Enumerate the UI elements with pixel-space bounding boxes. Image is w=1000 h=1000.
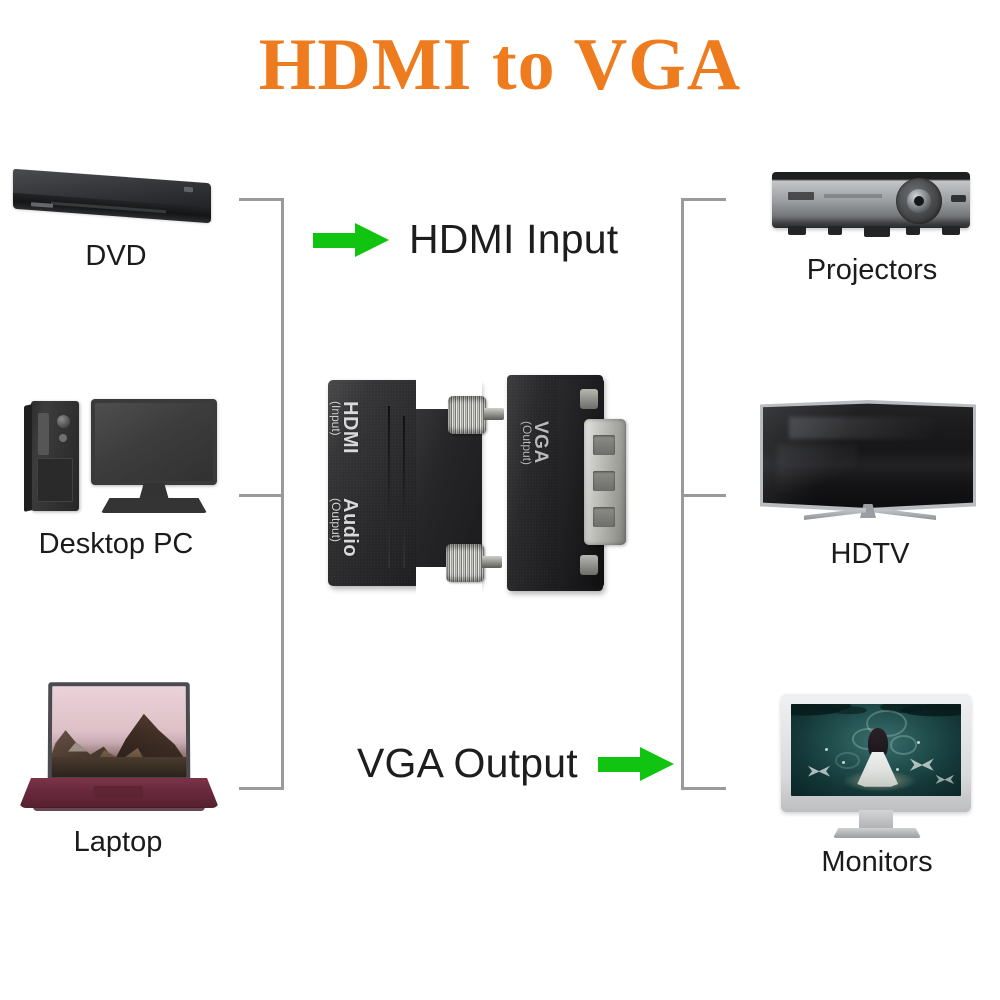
projector-icon [766,168,978,246]
arrow-right-icon [598,747,674,781]
adapter-screw-post-top [580,389,598,409]
device-label: Monitors [762,846,992,879]
vga-output-label: VGA Output [357,740,578,787]
bracket-stub-middle [684,494,726,497]
bracket-stub-bottom [684,787,726,790]
device-label: DVD [0,240,232,273]
dvd-player-icon [11,170,221,232]
page-title: HDMI to VGA [0,28,1000,102]
bracket-stub-top [239,198,281,201]
source-device-dvd: DVD [0,170,232,273]
source-device-desktop-pc: Desktop PC [0,395,232,561]
adapter-thumbscrew-bottom [446,544,500,582]
bracket-vertical-line [281,198,284,790]
adapter-hdmi-port-label: HDMI (Input) [329,401,360,454]
adapter-vga-port-label: VGA (Output) [520,421,550,465]
bracket-stub-middle [239,494,281,497]
adapter-vga-dsub-connector [584,419,626,545]
adapter-audio-port-label: Audio (Output) [329,498,360,557]
input-bracket [239,198,284,790]
bracket-stub-top [684,198,726,201]
hdmi-input-flow: HDMI Input [313,216,618,263]
destination-device-projectors: Projectors [760,168,984,287]
device-label: Laptop [8,826,228,859]
adapter-screw-post-bottom [580,555,598,575]
source-device-laptop: Laptop [8,678,228,859]
vga-output-flow: VGA Output [357,740,674,787]
destination-device-hdtv: HDTV [750,398,990,571]
adapter-thumbscrew-top [448,396,502,434]
output-bracket [681,198,726,790]
bracket-stub-bottom [239,787,281,790]
laptop-icon [15,678,221,818]
hdtv-icon [756,398,984,530]
hdmi-input-label: HDMI Input [409,216,618,263]
device-label: Projectors [760,254,984,287]
device-label: HDTV [750,538,990,571]
destination-device-monitors: Monitors [762,690,992,879]
device-label: Desktop PC [0,528,232,561]
desktop-pc-icon [13,395,219,520]
hdmi-to-vga-adapter: HDMI (Input) Audio (Output) VGA (Output) [312,373,624,603]
monitor-icon [771,690,983,838]
arrow-right-icon [313,223,389,257]
